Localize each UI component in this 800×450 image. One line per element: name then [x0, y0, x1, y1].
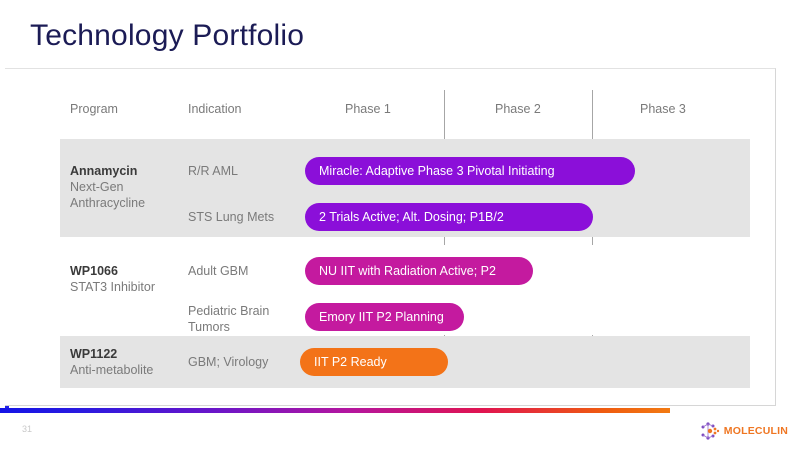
page-number: 31 [22, 424, 32, 434]
indication-label: GBM; Virology [188, 354, 298, 370]
program-subtitle: STAT3 Inhibitor [70, 279, 185, 295]
indication-label: Pediatric Brain Tumors [188, 303, 298, 335]
table-row: Annamycin Next-Gen Anthracycline R/R AML… [60, 139, 750, 237]
table-row: WP1066 STAT3 Inhibitor Adult GBM NU IIT … [60, 245, 750, 335]
slide: Technology Portfolio Program Indication … [0, 0, 800, 450]
column-header-program: Program [70, 102, 118, 116]
program-subtitle: Anti-metabolite [70, 362, 185, 378]
indication-label: Adult GBM [188, 263, 298, 279]
page-title: Technology Portfolio [30, 16, 304, 56]
status-pill[interactable]: Emory IIT P2 Planning [305, 303, 464, 331]
table-header-row: Program Indication Phase 1 Phase 2 Phase… [60, 98, 750, 124]
column-header-phase-1: Phase 1 [345, 102, 391, 116]
program-name: WP1122 [70, 346, 117, 362]
brand-name: MOLECULIN [724, 425, 788, 437]
program-name: Annamycin [70, 163, 137, 179]
brand-logo: MOLECULIN [700, 420, 788, 442]
status-pill[interactable]: Miracle: Adaptive Phase 3 Pivotal Initia… [305, 157, 635, 185]
indication-label: R/R AML [188, 163, 298, 179]
indication-label: STS Lung Mets [188, 209, 298, 225]
column-header-phase-3: Phase 3 [640, 102, 686, 116]
footer-gradient-bar [0, 408, 670, 413]
column-header-indication: Indication [188, 102, 242, 116]
status-pill[interactable]: IIT P2 Ready [300, 348, 448, 376]
molecule-icon [700, 421, 722, 441]
table-row: WP1122 Anti-metabolite GBM; Virology IIT… [60, 336, 750, 388]
column-header-phase-2: Phase 2 [495, 102, 541, 116]
status-pill[interactable]: NU IIT with Radiation Active; P2 [305, 257, 533, 285]
program-name: WP1066 [70, 263, 118, 279]
portfolio-table: Program Indication Phase 1 Phase 2 Phase… [60, 90, 750, 390]
program-subtitle: Next-Gen Anthracycline [70, 179, 185, 211]
status-pill[interactable]: 2 Trials Active; Alt. Dosing; P1B/2 [305, 203, 593, 231]
